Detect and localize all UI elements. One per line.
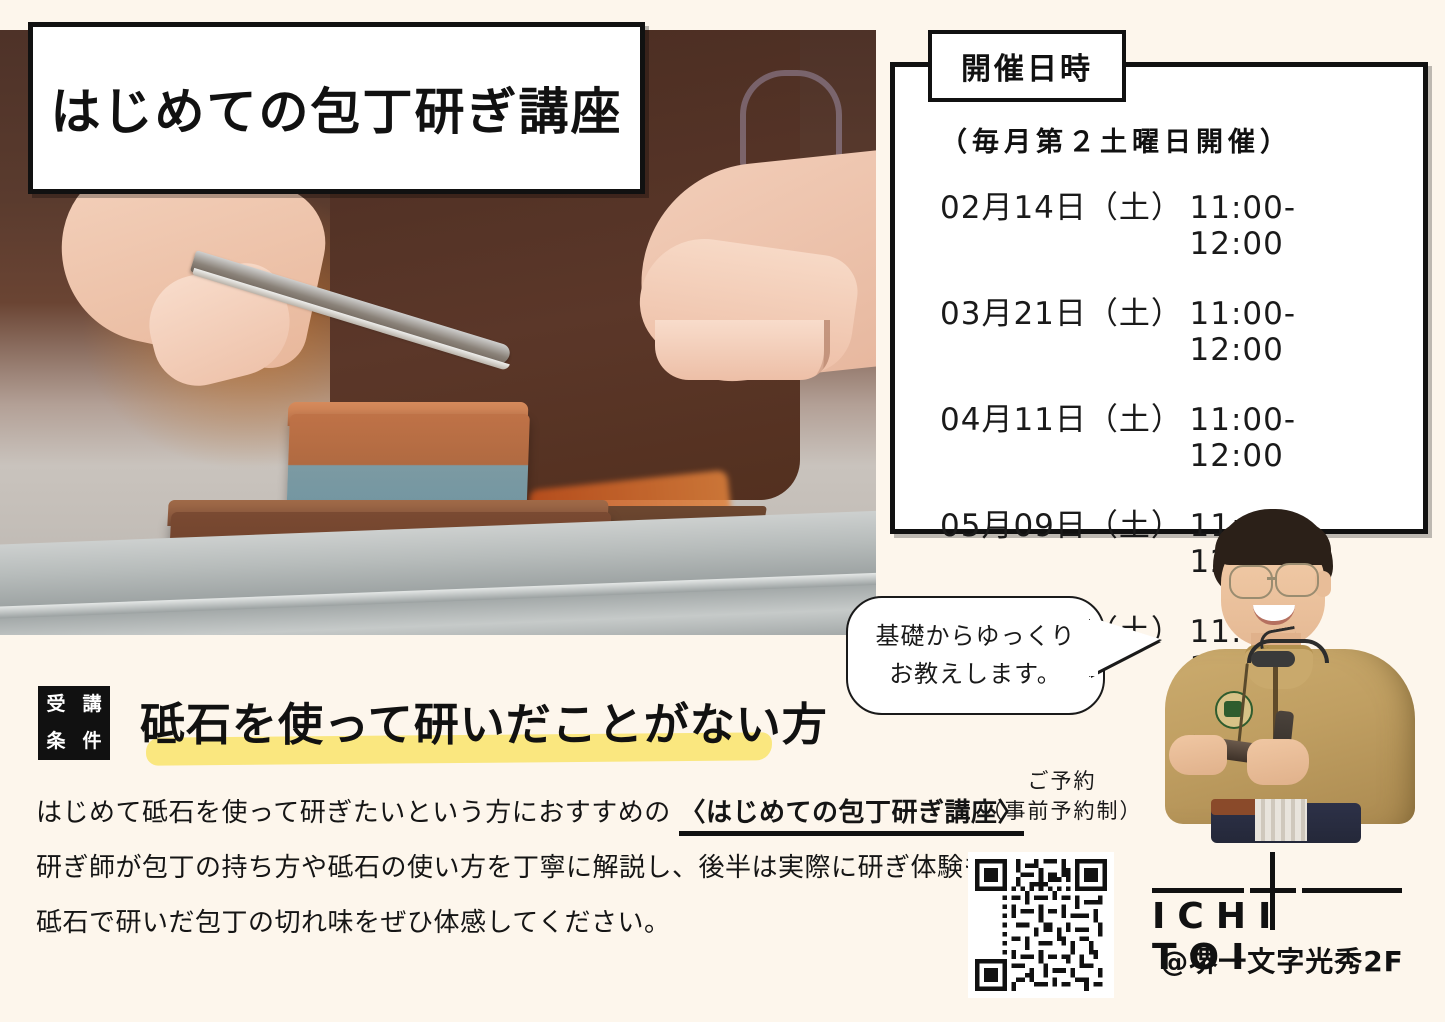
jacket-emblem-inner: [1224, 701, 1242, 717]
qr-code-icon: [975, 859, 1107, 991]
speech-bubble: 基礎からゆっくり お教えします。: [846, 596, 1105, 715]
ichitoi-cross-mark-icon-h: [1250, 888, 1296, 893]
badge-char-3: 条: [46, 732, 65, 751]
glasses-icon: [1229, 565, 1273, 599]
jacket-emblem-icon: [1215, 691, 1253, 729]
condition-heading: 砥石を使って研いだことがない方: [140, 688, 828, 753]
badge-char-4: 件: [82, 732, 101, 751]
schedule-date: 05月09日（土）: [940, 500, 1190, 545]
reservation-line-1: ご予約: [962, 766, 1162, 796]
schedule-tab-label: 開催日時: [961, 44, 1093, 88]
glasses-bridge-icon: [1267, 577, 1277, 580]
logo-bar-right: [1302, 888, 1402, 893]
schedule-row: 02月14日（土） 11:00-12:00: [940, 182, 1390, 262]
schedule-row: 04月11日（土） 11:00-12:00: [940, 394, 1390, 474]
page-title: はじめての包丁研ぎ講座: [51, 72, 623, 144]
reservation-line-2: （事前予約制）: [962, 796, 1162, 826]
schedule-tab: 開催日時: [928, 30, 1126, 102]
schedule-date: 04月11日（土）: [940, 394, 1190, 439]
logo-bar-left: [1152, 888, 1244, 893]
instructor-right-hand: [1247, 739, 1309, 785]
brand-address: @堺一文字光秀2F: [1142, 940, 1422, 980]
body-line-3: 砥石で研いだ包丁の切れ味をぜひ体感してください。: [36, 910, 936, 936]
brand-logo: ICHI TOI: [1152, 852, 1402, 932]
body-copy: はじめて砥石を使って研ぎたいという方におすすめの 〈はじめての包丁研ぎ講座〉 研…: [36, 800, 936, 965]
speech-bubble-line-1: 基礎からゆっくり: [876, 618, 1076, 655]
glasses-icon: [1275, 563, 1319, 597]
schedule-date: 02月14日（土）: [940, 182, 1190, 227]
instructor-belt-wrap: [1255, 799, 1307, 841]
photo-right-fingers: [655, 320, 830, 380]
body-line-1: はじめて砥石を使って研ぎたいという方におすすめの 〈はじめての包丁研ぎ講座〉: [36, 800, 936, 826]
badge-char-2: 講: [82, 695, 101, 714]
poster-canvas: はじめての包丁研ぎ講座 開催日時 （毎月第２土曜日開催） 02月14日（土） 1…: [0, 0, 1445, 1022]
instructor-left-hand: [1169, 735, 1227, 775]
condition-badge: 受 講 条 件: [38, 686, 110, 760]
headset-mic-pack-icon: [1251, 651, 1295, 667]
schedule-time: 11:00-12:00: [1190, 190, 1390, 262]
reservation-label: ご予約 （事前予約制）: [962, 766, 1162, 827]
qr-code[interactable]: [968, 852, 1114, 998]
instructor-fringe: [1215, 523, 1331, 565]
instructor-photo: [1155, 505, 1425, 840]
speech-bubble-tail-icon: [1090, 617, 1160, 675]
speech-bubble-seam: [1088, 620, 1098, 676]
schedule-time: 11:00-12:00: [1190, 402, 1390, 474]
badge-char-1: 受: [46, 695, 65, 714]
body-line-2: 研ぎ師が包丁の持ち方や砥石の使い方を丁寧に解説し、後半は実際に研ぎ体験も。: [36, 855, 936, 881]
page-title-box: はじめての包丁研ぎ講座: [28, 22, 645, 194]
schedule-row: 03月21日（土） 11:00-12:00: [940, 288, 1390, 368]
schedule-time: 11:00-12:00: [1190, 296, 1390, 368]
body-line-1-plain: はじめて砥石を使って研ぎたいという方におすすめの: [36, 798, 679, 828]
speech-bubble-line-2: お教えします。: [889, 656, 1062, 693]
schedule-date: 03月21日（土）: [940, 288, 1190, 333]
schedule-note: （毎月第２土曜日開催）: [940, 120, 1292, 159]
